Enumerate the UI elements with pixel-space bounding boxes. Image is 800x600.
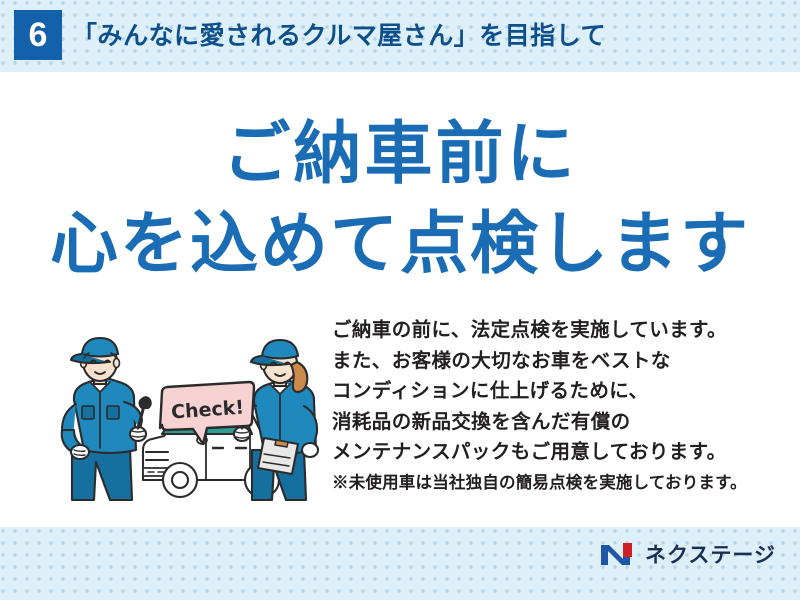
body-copy: ご納車の前に、法定点検を実施しています。 また、お客様の大切なお車をベストな コ…: [332, 315, 772, 497]
mechanics-illustration: Check!: [50, 330, 340, 510]
section-number-label: 6: [29, 18, 48, 52]
body-copy-line: ご納車の前に、法定点検を実施しています。: [332, 315, 772, 346]
headline-line-2: 心を込めて点検します: [0, 207, 800, 283]
header: 6 「みんなに愛されるクルマ屋さん」を目指して: [0, 0, 800, 72]
body-copy-note: ※未使用車は当社独自の簡易点検を実施しております。: [332, 470, 772, 497]
nextage-logo: ネクステージ: [599, 539, 776, 569]
footer: ネクステージ: [0, 527, 800, 600]
page-background: 6 「みんなに愛されるクルマ屋さん」を目指して ご納車前に 心を込めて点検します…: [0, 0, 800, 600]
content-card: ご納車前に 心を込めて点検します ご納車の前に、法定点検を実施しています。 また…: [0, 72, 800, 527]
header-title: 「みんなに愛されるクルマ屋さん」を目指して: [72, 16, 606, 56]
headline-line-1: ご納車前に: [0, 117, 800, 193]
section-number-badge: 6: [14, 10, 62, 60]
body-copy-line: 消耗品の新品交換を含んだ有償の: [332, 407, 772, 438]
male-mechanic-figure: [62, 338, 151, 500]
nextage-logo-text: ネクステージ: [645, 539, 776, 569]
body-copy-line: コンディションに仕上げるために、: [332, 376, 772, 407]
mechanics-illustration-svg: Check!: [50, 330, 340, 510]
body-copy-line: メンテナンスパックもご用意しております。: [332, 437, 772, 468]
body-copy-line: また、お客様の大切なお車をベストな: [332, 346, 772, 377]
nextage-n-mark-icon: [599, 541, 637, 567]
